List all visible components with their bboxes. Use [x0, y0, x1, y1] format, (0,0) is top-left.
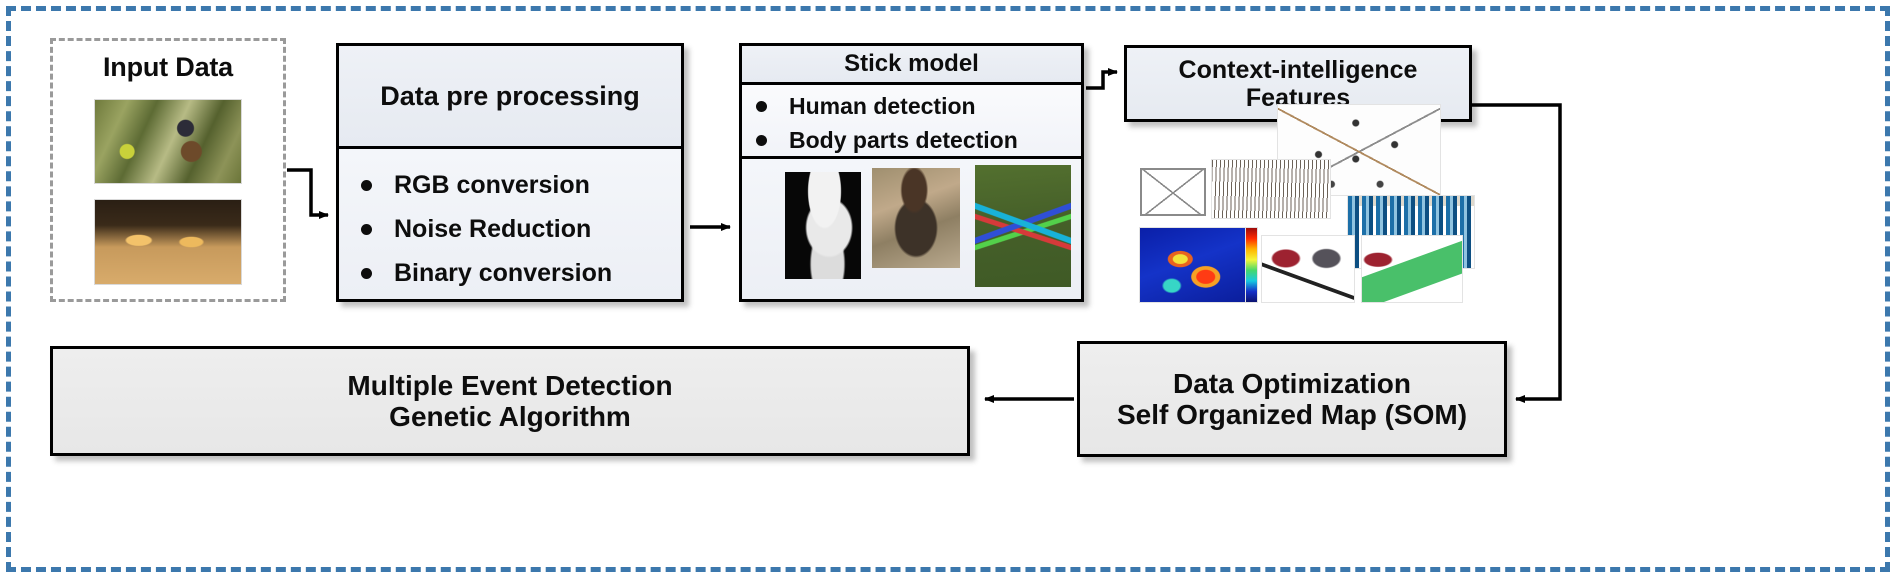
data-pre-processing-body: RGB conversion Noise Reduction Binary co…: [339, 146, 681, 299]
list-item-label: Noise Reduction: [394, 215, 591, 244]
data-pre-processing-box: Data pre processing RGB conversion Noise…: [336, 43, 684, 302]
event-detection-line-2: Genetic Algorithm: [389, 401, 631, 432]
multiple-event-detection-title: Multiple Event Detection Genetic Algorit…: [53, 349, 967, 453]
silhouette-thumbnail: [785, 172, 861, 279]
input-data-title: Input Data: [50, 52, 286, 83]
data-optimization-title: Data Optimization Self Organized Map (SO…: [1080, 344, 1504, 454]
list-item: Noise Reduction: [361, 207, 681, 251]
list-item: Human detection: [756, 89, 1081, 123]
bullet-icon: [361, 224, 372, 235]
line-signal-chart: [1212, 160, 1330, 218]
data-optimization-line-1: Data Optimization: [1173, 368, 1411, 399]
cross-box-chart: [1140, 168, 1206, 216]
two-people-interaction-image: [1262, 236, 1354, 302]
heatmap-chart: [1140, 228, 1246, 302]
list-item: Binary conversion: [361, 251, 681, 295]
data-pre-processing-title: Data pre processing: [339, 46, 681, 146]
list-item-label: Human detection: [789, 93, 976, 120]
list-item-label: Body parts detection: [789, 127, 1018, 154]
forest-scene-thumbnail: [95, 100, 241, 183]
multiple-event-detection-box: Multiple Event Detection Genetic Algorit…: [50, 346, 970, 456]
two-people-triangle-image: [1362, 236, 1462, 302]
list-item-label: Binary conversion: [394, 259, 612, 288]
list-item: Body parts detection: [756, 123, 1081, 157]
event-detection-line-1: Multiple Event Detection: [347, 370, 672, 401]
stage-performers-thumbnail: [95, 200, 241, 284]
heatmap-colorbar: [1246, 228, 1257, 302]
list-item: RGB conversion: [361, 163, 681, 207]
data-optimization-line-2: Self Organized Map (SOM): [1117, 399, 1467, 430]
context-title-line-1: Context-intelligence: [1179, 56, 1418, 84]
diagram-canvas: Input Data Data pre processing RGB conve…: [0, 0, 1900, 581]
person-crop-thumbnail: [872, 168, 960, 268]
bullet-icon: [361, 180, 372, 191]
skeleton-overlay-thumbnail: [975, 165, 1071, 287]
stick-model-title: Stick model: [742, 46, 1081, 82]
data-optimization-box: Data Optimization Self Organized Map (SO…: [1077, 341, 1507, 457]
stick-model-list: Human detection Body parts detection: [756, 89, 1081, 157]
stick-model-list-body: Human detection Body parts detection: [742, 82, 1081, 156]
list-item-label: RGB conversion: [394, 171, 590, 200]
bullet-icon: [756, 101, 767, 112]
data-pre-processing-list: RGB conversion Noise Reduction Binary co…: [361, 163, 681, 295]
bullet-icon: [756, 135, 767, 146]
bullet-icon: [361, 268, 372, 279]
